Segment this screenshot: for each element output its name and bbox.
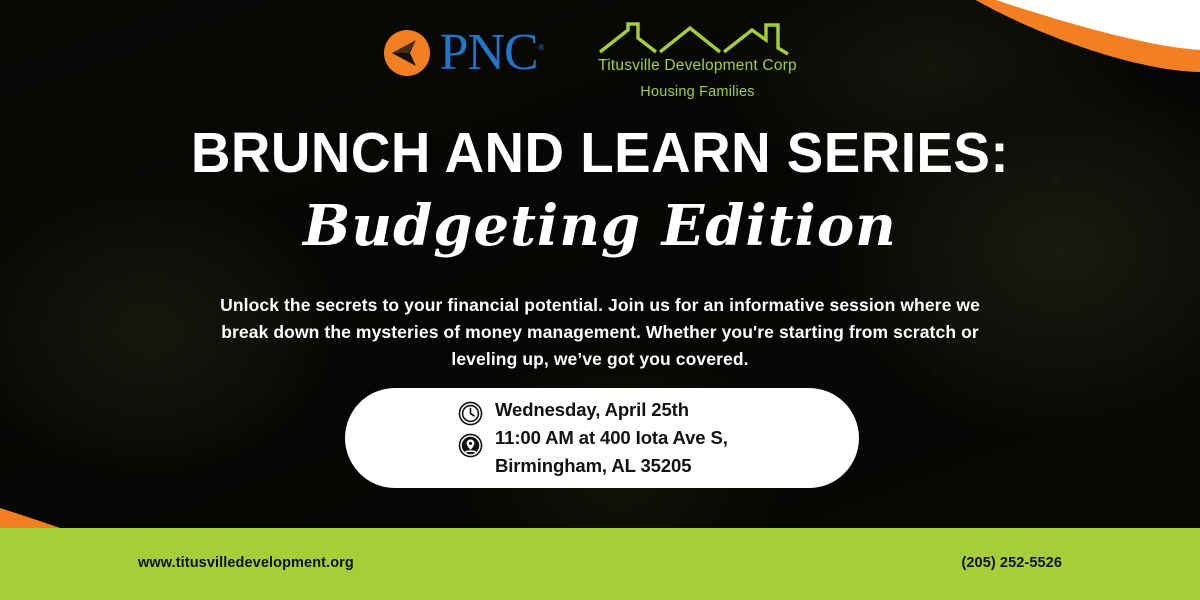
map-pin-icon xyxy=(458,433,483,458)
clock-icon xyxy=(458,401,483,426)
pnc-logo: PNC® xyxy=(383,22,544,77)
footer-bar: www.titusvilledevelopment.org (205) 252-… xyxy=(0,528,1200,600)
event-flyer: PNC® Titusville Development Corp Housing… xyxy=(0,0,1200,600)
event-details-card: Wednesday, April 25th 11:00 AM at 400 Io… xyxy=(345,388,859,488)
pnc-wordmark-text: PNC xyxy=(440,24,538,81)
pnc-triangle-circle-icon xyxy=(383,29,431,77)
event-date: Wednesday, April 25th xyxy=(495,398,728,422)
page-subtitle: Budgeting Edition xyxy=(0,196,1200,258)
event-city-state-zip: Birmingham, AL 35205 xyxy=(495,454,728,478)
description-text: Unlock the secrets to your financial pot… xyxy=(200,292,1000,373)
page-title: BRUNCH AND LEARN SERIES: xyxy=(24,124,1176,184)
footer-website[interactable]: www.titusvilledevelopment.org xyxy=(138,555,354,571)
pnc-wordmark: PNC® xyxy=(440,28,544,77)
pnc-registered-mark: ® xyxy=(538,43,544,53)
logo-row: PNC® Titusville Development Corp Housing… xyxy=(0,22,1200,100)
titusville-logo: Titusville Development Corp Housing Fami… xyxy=(578,22,818,100)
event-time-street: 11:00 AM at 400 Iota Ave S, xyxy=(495,426,728,450)
titusville-name: Titusville Development Corp xyxy=(598,57,797,75)
titusville-tagline: Housing Families xyxy=(640,84,754,100)
rooftops-icon xyxy=(598,22,798,56)
footer-phone[interactable]: (205) 252-5526 xyxy=(961,555,1062,571)
